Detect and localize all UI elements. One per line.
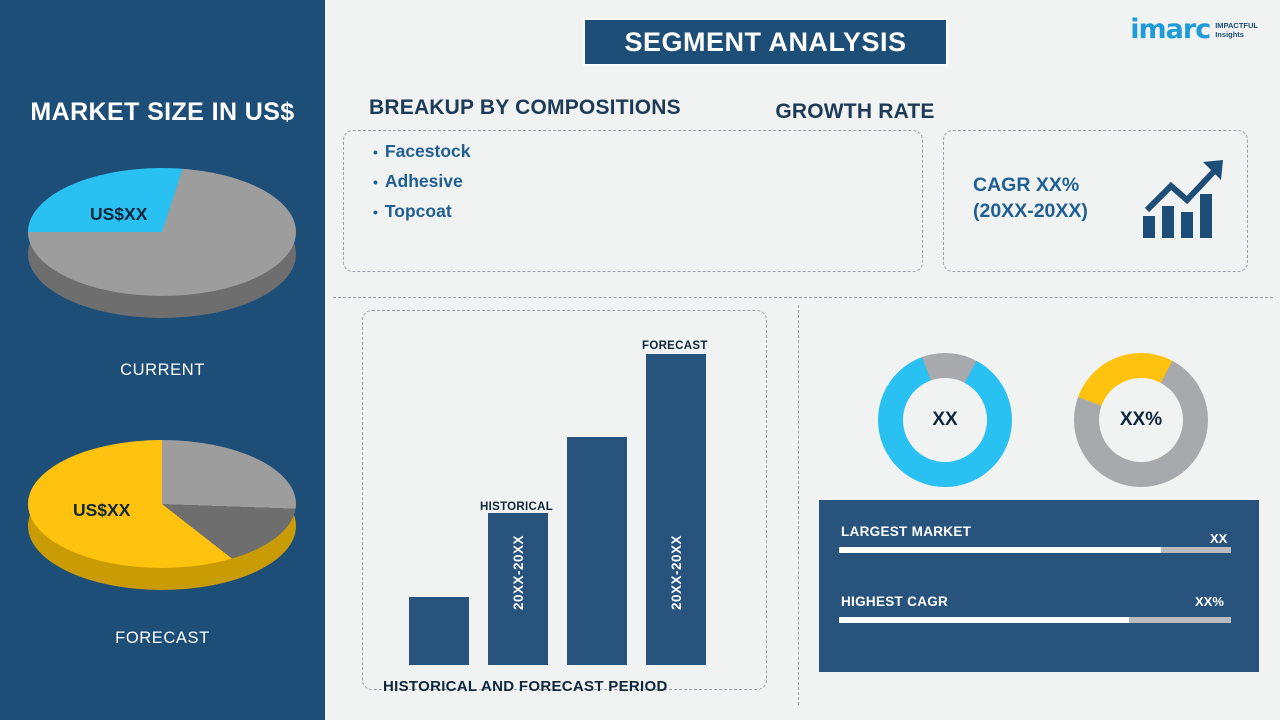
vertical-divider <box>798 305 799 705</box>
list-item: • Facestock <box>373 141 471 162</box>
cagr-text: CAGR XX% (20XX-20XX) <box>973 172 1088 224</box>
metric-1-label: LARGEST MARKET <box>841 524 971 539</box>
segment-analysis-infographic: MARKET SIZE IN US$ US$XX CURRENT US$XX F… <box>0 0 1280 720</box>
bullet-dot-icon: • <box>373 144 378 160</box>
cagr-line-1: CAGR XX% <box>973 172 1088 198</box>
bar-2-label: 20XX-20XX <box>511 535 526 610</box>
list-item: • Adhesive <box>373 171 471 192</box>
pie-forecast-value: US$XX <box>73 500 130 521</box>
metric-2-label: HIGHEST CAGR <box>841 594 948 609</box>
metric-1-fill <box>839 547 1161 553</box>
compositions-list: • Facestock • Adhesive • Topcoat <box>373 141 471 231</box>
composition-label: Facestock <box>385 141 471 162</box>
logo-wordmark: imarc <box>1130 14 1210 45</box>
bar-4 <box>646 354 706 665</box>
forecast-caption: FORECAST <box>642 340 708 352</box>
bullet-dot-icon: • <box>373 204 378 220</box>
bar-chart-arrow-icon <box>1135 150 1230 245</box>
page-title: SEGMENT ANALYSIS <box>583 18 948 66</box>
left-panel: MARKET SIZE IN US$ US$XX CURRENT US$XX F… <box>0 0 325 720</box>
pie-forecast-label: FORECAST <box>0 629 325 648</box>
metric-2-fill <box>839 617 1129 623</box>
right-area: SEGMENT ANALYSIS imarc IMPACTFUL Insight… <box>325 0 1280 720</box>
bullet-dot-icon: • <box>373 174 378 190</box>
logo-tagline-1: IMPACTFUL <box>1215 21 1258 30</box>
bar-1 <box>409 597 469 665</box>
composition-label: Topcoat <box>385 201 452 222</box>
donut-1-value: XX <box>903 378 987 462</box>
pie-chart-forecast: US$XX <box>28 440 296 590</box>
horizontal-divider <box>333 297 1273 298</box>
list-item: • Topcoat <box>373 201 471 222</box>
pie-current-label: CURRENT <box>0 361 325 380</box>
bar-3 <box>567 437 627 665</box>
historical-caption: HISTORICAL <box>480 501 553 513</box>
imarc-logo: imarc IMPACTFUL Insights <box>1130 14 1258 45</box>
composition-label: Adhesive <box>385 171 463 192</box>
market-size-title: MARKET SIZE IN US$ <box>0 98 325 127</box>
logo-tagline-2: Insights <box>1215 30 1258 39</box>
metric-2-value: XX% <box>1195 594 1224 609</box>
compositions-title: BREAKUP BY COMPOSITIONS <box>369 96 681 120</box>
metric-1-value: XX <box>1210 531 1227 546</box>
pie-current-value: US$XX <box>90 204 147 225</box>
cagr-line-2: (20XX-20XX) <box>973 198 1088 224</box>
bar-4-label: 20XX-20XX <box>669 535 684 610</box>
axis-caption: HISTORICAL AND FORECAST PERIOD <box>383 678 668 695</box>
pie-chart-current: US$XX <box>28 168 296 318</box>
donut-2-value: XX% <box>1099 378 1183 462</box>
growth-rate-title: GROWTH RATE <box>685 100 1025 124</box>
